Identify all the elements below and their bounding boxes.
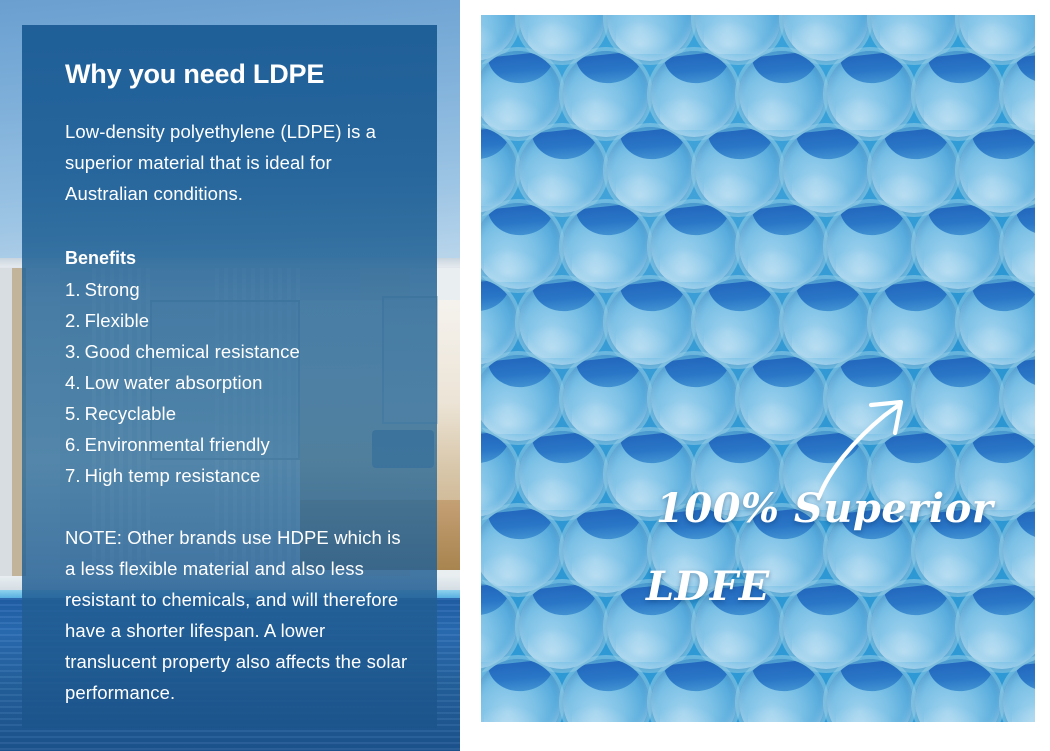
bubble-cell: [481, 203, 561, 289]
bubble-cell: [651, 355, 737, 441]
bubble-cell: [959, 127, 1035, 213]
list-item-index: 7.: [65, 465, 81, 486]
bubble-cell: [563, 51, 649, 137]
product-feature-graphic: Why you need LDPE Low-density polyethyle…: [0, 0, 1050, 751]
bubble-cell: [1003, 51, 1035, 137]
list-item-index: 5.: [65, 403, 81, 424]
bubble-cell: [481, 279, 517, 365]
bubble-cell: [563, 507, 649, 593]
list-item-index: 3.: [65, 341, 81, 362]
benefits-list: 1.Strong 2.Flexible 3.Good chemical resi…: [65, 274, 413, 491]
bubble-cell: [871, 127, 957, 213]
bubble-cell: [1003, 203, 1035, 289]
bubble-cell: [827, 659, 913, 722]
benefits-heading: Benefits: [65, 243, 413, 274]
list-item-label: Good chemical resistance: [85, 341, 300, 362]
list-item: 2.Flexible: [65, 305, 413, 336]
annotation-line-2: LDFE: [646, 548, 1016, 626]
list-item: 6.Environmental friendly: [65, 429, 413, 460]
benefits-block: Benefits 1.Strong 2.Flexible 3.Good chem…: [65, 243, 413, 491]
bubble-cell: [651, 203, 737, 289]
list-item: 3.Good chemical resistance: [65, 336, 413, 367]
list-item-index: 2.: [65, 310, 81, 331]
bubble-cell: [481, 51, 561, 137]
bubble-cell: [481, 583, 517, 669]
bubble-cell: [563, 659, 649, 722]
bubble-cell: [783, 127, 869, 213]
bubble-cell: [695, 279, 781, 365]
bubble-cell: [827, 51, 913, 137]
note-paragraph: NOTE: Other brands use HDPE which is a l…: [65, 522, 413, 708]
right-product-photo-panel: 100% Superior LDFE: [481, 15, 1035, 722]
bubble-cell: [519, 431, 605, 517]
bubble-cell: [827, 203, 913, 289]
intro-paragraph: Low-density polyethylene (LDPE) is a sup…: [65, 116, 413, 209]
bubble-cell: [739, 203, 825, 289]
bubble-cell: [695, 127, 781, 213]
info-card: Why you need LDPE Low-density polyethyle…: [22, 25, 437, 728]
bubble-cell: [739, 659, 825, 722]
list-item-label: High temp resistance: [85, 465, 261, 486]
bubble-cell: [827, 355, 913, 441]
left-info-panel: Why you need LDPE Low-density polyethyle…: [0, 0, 460, 751]
bubble-cell: [651, 51, 737, 137]
bubble-cell: [563, 203, 649, 289]
list-item-index: 4.: [65, 372, 81, 393]
list-item-label: Low water absorption: [85, 372, 263, 393]
bubble-cell: [481, 127, 517, 213]
list-item: 4.Low water absorption: [65, 367, 413, 398]
list-item-index: 6.: [65, 434, 81, 455]
bubble-cell: [739, 51, 825, 137]
bubble-cell: [519, 583, 605, 669]
list-item-label: Environmental friendly: [85, 434, 270, 455]
list-item: 1.Strong: [65, 274, 413, 305]
bubble-cell: [563, 355, 649, 441]
list-item-label: Strong: [85, 279, 140, 300]
bubble-cell: [915, 659, 1001, 722]
bubble-cell: [481, 659, 561, 722]
bubble-cell: [481, 431, 517, 517]
annotation-line-1: 100% Superior: [656, 470, 1016, 548]
bubble-cell: [607, 279, 693, 365]
page-title: Why you need LDPE: [65, 59, 413, 90]
bubble-cell: [915, 203, 1001, 289]
bubble-cell: [519, 127, 605, 213]
bubble-cell: [783, 279, 869, 365]
list-item-index: 1.: [65, 279, 81, 300]
bubble-cell: [915, 355, 1001, 441]
bubble-cell: [959, 279, 1035, 365]
handwritten-annotation: 100% Superior LDFE: [656, 470, 1016, 626]
bubble-cell: [651, 659, 737, 722]
bubble-cell: [739, 355, 825, 441]
bubble-cell: [607, 127, 693, 213]
bubble-cell: [871, 279, 957, 365]
list-item: 7.High temp resistance: [65, 460, 413, 491]
bubble-cell: [481, 507, 561, 593]
bubble-cell: [915, 51, 1001, 137]
bubble-cell: [1003, 355, 1035, 441]
bubble-cell: [481, 355, 561, 441]
bubble-cell: [519, 279, 605, 365]
list-item-label: Flexible: [85, 310, 150, 331]
list-item-label: Recyclable: [85, 403, 177, 424]
list-item: 5.Recyclable: [65, 398, 413, 429]
